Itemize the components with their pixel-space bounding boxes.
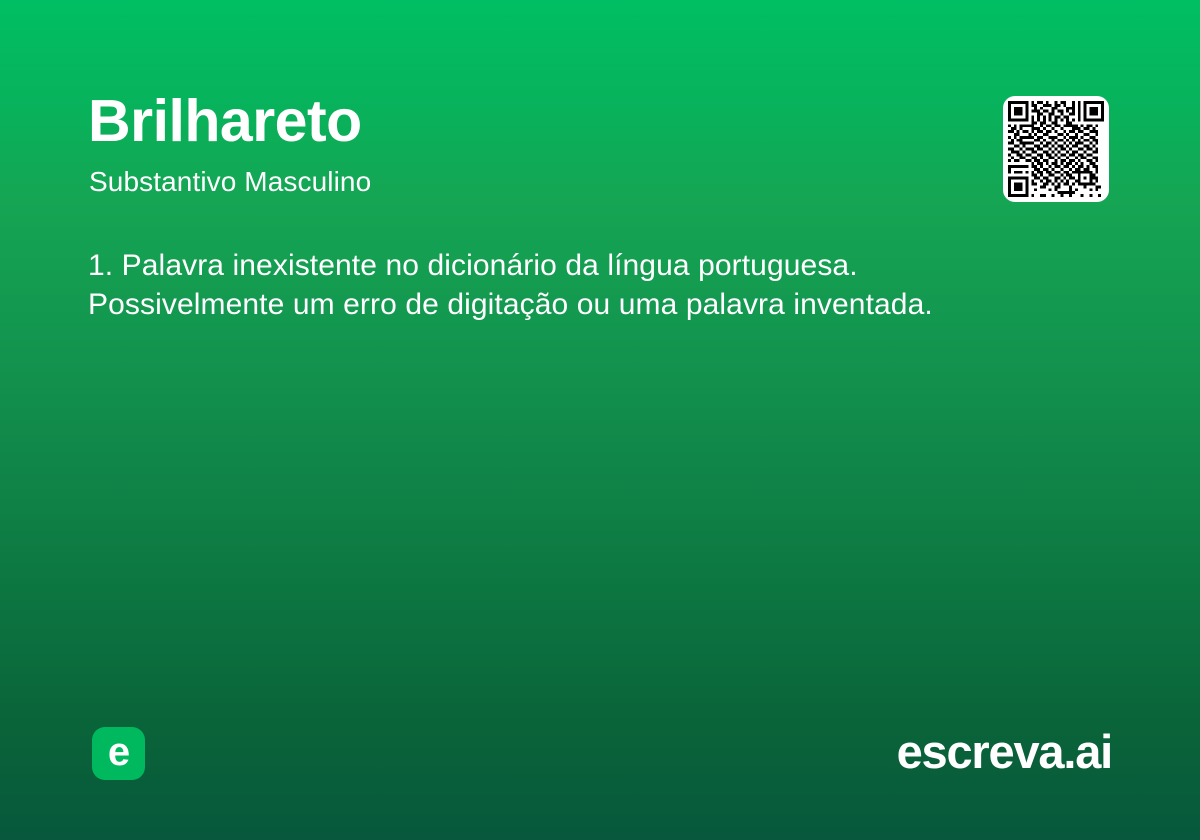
dictionary-card: Brilhareto Substantivo Masculino 1. Pala…: [0, 0, 1200, 840]
qr-code-container[interactable]: [1003, 96, 1109, 202]
qr-code-icon[interactable]: [1008, 101, 1104, 197]
definition-line: Possivelmente um erro de digitação ou um…: [88, 285, 1098, 324]
page-title: Brilhareto: [88, 90, 362, 153]
definition-line: 1. Palavra inexistente no dicionário da …: [88, 246, 1098, 285]
brand-logo-letter: e: [108, 732, 129, 772]
word-class-label: Substantivo Masculino: [89, 166, 371, 198]
brand-logo-icon: e: [92, 727, 145, 780]
definition-block: 1. Palavra inexistente no dicionário da …: [88, 246, 1098, 324]
brand-wordmark: escreva.ai: [897, 728, 1112, 775]
